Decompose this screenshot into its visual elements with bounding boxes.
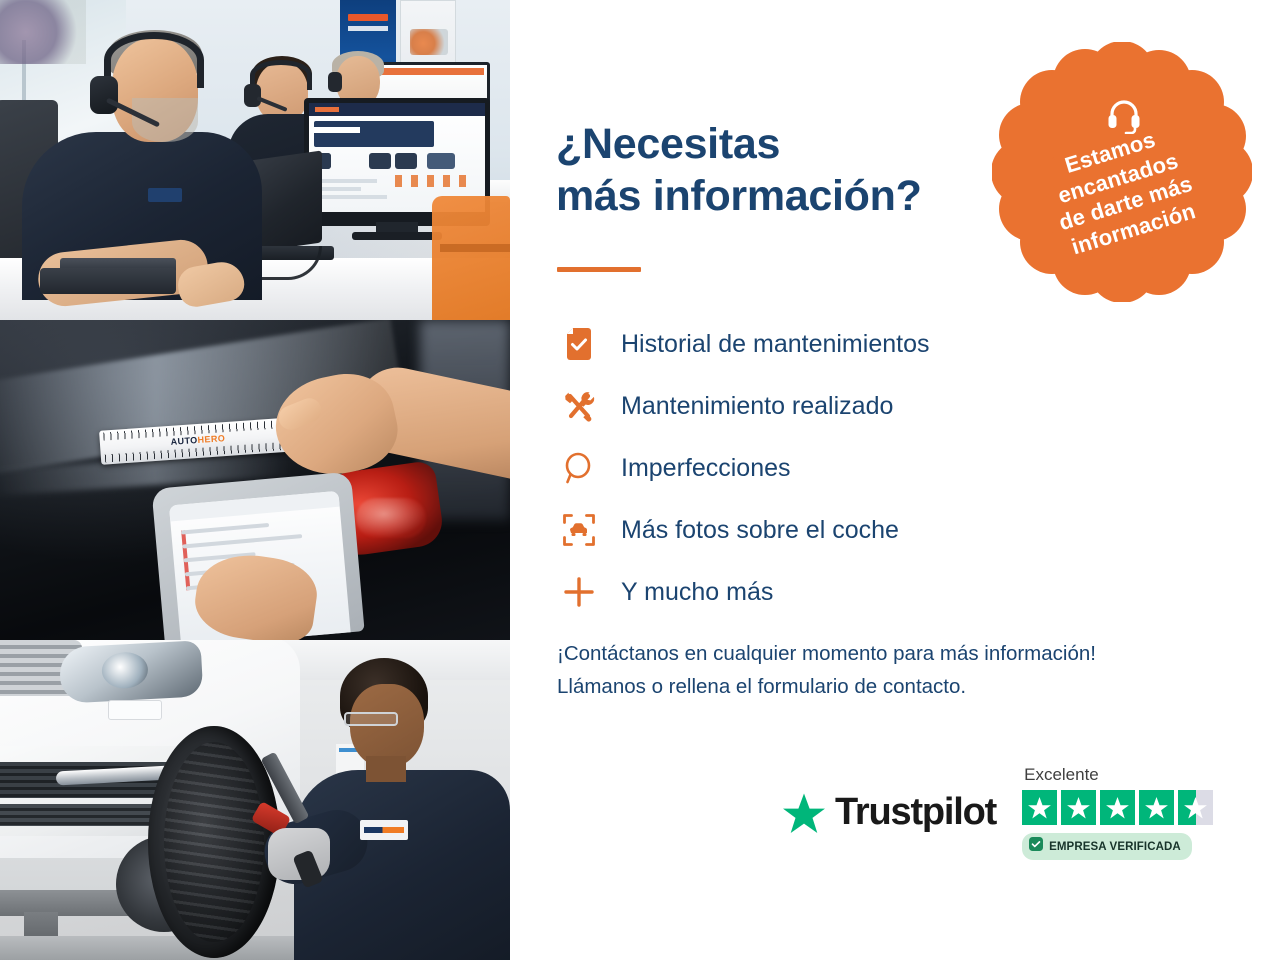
- car-tire: [148, 726, 280, 958]
- page-title: ¿Necesitas más información?: [556, 118, 922, 223]
- feature-item-mantenimiento[interactable]: Mantenimiento realizado: [555, 375, 1075, 437]
- star-filled-3: [1100, 790, 1135, 825]
- car-taillight-glow: [356, 498, 426, 538]
- contact-paragraph: ¡Contáctanos en cualquier momento para m…: [557, 637, 1257, 703]
- content-panel: ¿Necesitas más información?: [510, 0, 1280, 960]
- trustpilot-rating: Excelente: [1022, 765, 1213, 860]
- star-filled-1: [1022, 790, 1057, 825]
- photo-column: AUTOHERO: [0, 0, 510, 960]
- verified-company-badge: EMPRESA VERIFICADA: [1022, 833, 1192, 860]
- trustpilot-star-icon: [782, 792, 826, 834]
- feature-item-imperfecciones[interactable]: Imperfecciones: [555, 437, 1075, 499]
- orange-chair: [432, 196, 510, 320]
- trustpilot-widget[interactable]: Trustpilot Excelente: [782, 765, 1213, 860]
- workshop-wheel-photo: [0, 640, 510, 960]
- star-filled-4: [1139, 790, 1174, 825]
- magnifier-icon: [555, 452, 603, 485]
- feature-item-mucho-mas[interactable]: Y mucho más: [555, 561, 1075, 623]
- title-divider: [557, 267, 641, 272]
- car-frame-icon: [555, 513, 603, 547]
- page-title-line-1: ¿Necesitas: [556, 120, 780, 168]
- feature-item-fotos[interactable]: Más fotos sobre el coche: [555, 499, 1075, 561]
- feature-item-historial[interactable]: Historial de mantenimientos: [555, 313, 1075, 375]
- page-title-line-2: más información?: [556, 170, 922, 222]
- contact-line-1: ¡Contáctanos en cualquier momento para m…: [557, 637, 1257, 670]
- autohero-info-poster: AUTOHERO: [0, 0, 1280, 960]
- feature-label: Más fotos sobre el coche: [603, 516, 899, 545]
- feature-list: Historial de mantenimientos Mantenimient…: [555, 313, 1075, 623]
- desk-tablet: [40, 268, 176, 294]
- feature-label: Imperfecciones: [603, 454, 791, 483]
- star-filled-2: [1061, 790, 1096, 825]
- rating-label: Excelente: [1024, 765, 1099, 785]
- document-check-icon: [555, 327, 603, 361]
- tools-icon: [555, 389, 603, 423]
- plus-icon: [555, 576, 603, 608]
- car-headlight: [59, 640, 204, 703]
- contact-line-2: Llámanos o rellena el formulario de cont…: [557, 670, 1257, 703]
- feature-label: Historial de mantenimientos: [603, 330, 929, 359]
- workshop-technician: [308, 658, 510, 960]
- star-rating: [1022, 790, 1213, 825]
- car-inspection-ruler-photo: AUTOHERO: [0, 320, 510, 640]
- feature-label: Y mucho más: [603, 578, 773, 607]
- check-badge-icon: [1029, 837, 1043, 856]
- call-center-agents-photo: [0, 0, 510, 320]
- feature-label: Mantenimiento realizado: [603, 392, 893, 421]
- car-plate-area: [108, 700, 162, 720]
- star-half-5: [1178, 790, 1213, 825]
- support-badge: Estamos encantados de darte más informac…: [992, 42, 1252, 302]
- trustpilot-wordmark: Trustpilot: [835, 791, 996, 834]
- agent-foreground: [28, 36, 278, 296]
- headset-icon: [1104, 94, 1144, 134]
- trustpilot-logo[interactable]: Trustpilot: [782, 791, 996, 834]
- verified-label: EMPRESA VERIFICADA: [1049, 841, 1181, 853]
